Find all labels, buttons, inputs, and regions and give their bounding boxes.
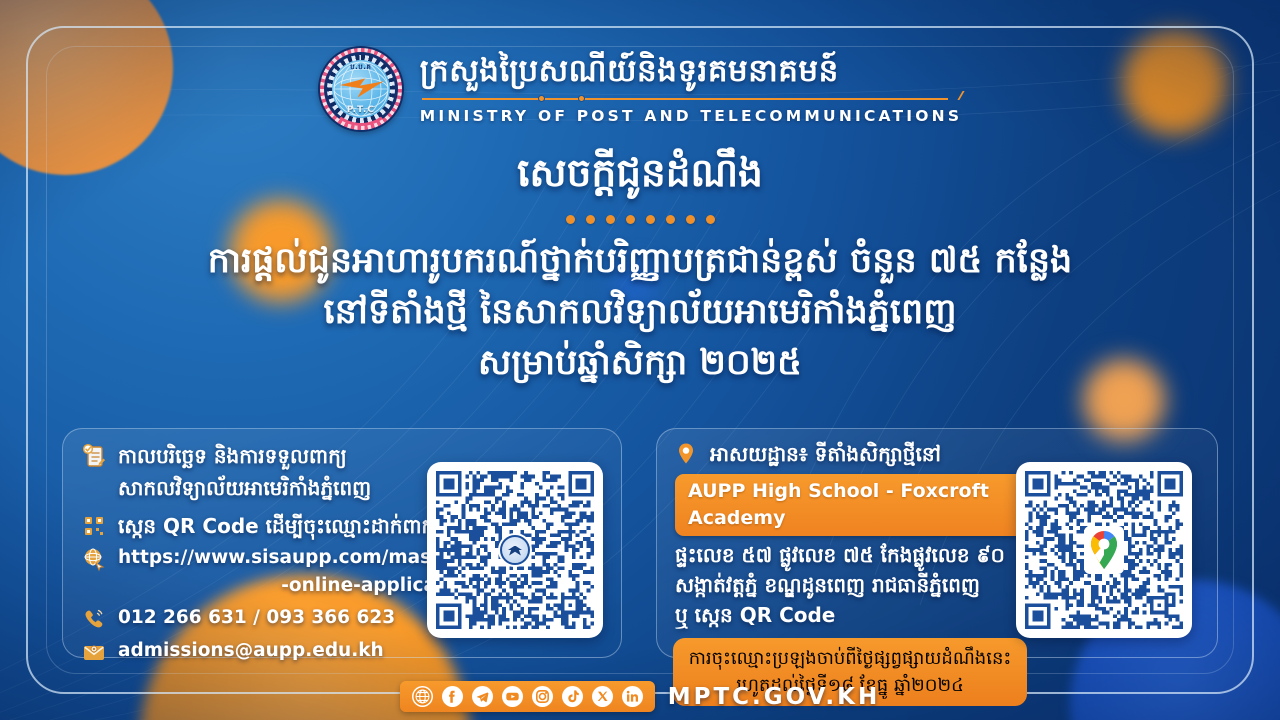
school-badge-wrap: AUPP High School - Foxcroft Academy bbox=[675, 474, 1027, 535]
address-line-1: ផ្ទះលេខ ៥៧ ផ្លូវលេខ ៧៥ កែងផ្លូវលេខ ៩០ bbox=[673, 540, 1005, 570]
application-qr-code[interactable] bbox=[427, 462, 603, 638]
location-qr-code[interactable] bbox=[1016, 462, 1192, 638]
qr-center-logo-seal bbox=[498, 533, 532, 567]
seal-initials-en: P.T.C bbox=[318, 105, 404, 115]
divider-dot bbox=[626, 215, 635, 224]
qr-scan-icon bbox=[81, 513, 107, 539]
announcement-line-1: ការផ្តល់ជូនអាហារូបករណ៍ថ្នាក់បរិញ្ញាបត្រជ… bbox=[0, 236, 1280, 287]
poster-canvas: ប.ប.គ P.T.C ក្រសួងប្រៃសណីយ៍និងទូរគមនាគមន… bbox=[0, 0, 1280, 720]
brand-block: ក្រសួងប្រៃសណីយ៍និងទូរគមនាគមន៍ MINISTRY O… bbox=[420, 53, 962, 125]
announcement-line-3: សម្រាប់ឆ្នាំសិក្សា ២០២៥ bbox=[0, 338, 1280, 389]
divider-dot bbox=[666, 215, 675, 224]
brand-name-khmer: ក្រសួងប្រៃសណីយ៍និងទូរគមនាគមន៍ bbox=[420, 53, 962, 90]
address-line-2: សង្កាត់វត្តភ្នំ ខណ្ឌដូនពេញ រាជធានីភ្នំពេ… bbox=[673, 570, 980, 600]
document-checklist-icon bbox=[81, 443, 107, 469]
divider-dot bbox=[606, 215, 615, 224]
info-row-university-label: សាកលវិទ្យាល័យអាមេរិកាំងភ្នំពេញ bbox=[118, 473, 371, 503]
info-row-email[interactable]: admissions@aupp.edu.kh bbox=[81, 637, 621, 665]
email-address[interactable]: admissions@aupp.edu.kh bbox=[118, 637, 384, 665]
tiktok-icon[interactable] bbox=[562, 686, 583, 707]
brand-name-english: MINISTRY OF POST AND TELECOMMUNICATIONS bbox=[420, 107, 962, 125]
divider-dot bbox=[646, 215, 655, 224]
mptc-seal-icon: ប.ប.គ P.T.C bbox=[318, 46, 404, 132]
divider-dot bbox=[686, 215, 695, 224]
announcement-line-2: នៅទីតាំងថ្មី នៃសាកលវិទ្យាល័យអាមេរិកាំងភ្… bbox=[0, 287, 1280, 338]
address-row-3: ឬ ស្កេន QR Code bbox=[673, 600, 1027, 630]
poster-header: ប.ប.គ P.T.C ក្រសួងប្រៃសណីយ៍និងទូរគមនាគមន… bbox=[0, 46, 1280, 132]
phone-numbers[interactable]: 012 266 631 / 093 366 623 bbox=[118, 604, 395, 632]
poster-footer: MPTC.GOV.KH bbox=[0, 681, 1280, 712]
instagram-icon[interactable] bbox=[532, 686, 553, 707]
linkedin-icon[interactable] bbox=[622, 686, 643, 707]
address-line-3: ឬ ស្កេន QR Code bbox=[673, 600, 835, 630]
brand-divider-rule bbox=[420, 93, 962, 103]
address-row-1: ផ្ទះលេខ ៥៧ ផ្លូវលេខ ៧៥ កែងផ្លូវលេខ ៩០ bbox=[673, 540, 1027, 570]
announcement-heading: សេចក្តីជូនដំណឹង bbox=[0, 150, 1280, 199]
phone-icon bbox=[81, 606, 107, 632]
email-icon bbox=[81, 639, 107, 665]
address-row-2: សង្កាត់វត្តភ្នំ ខណ្ឌដូនពេញ រាជធានីភ្នំពេ… bbox=[673, 570, 1027, 600]
qr-center-logo-maps-pin bbox=[1084, 526, 1124, 574]
x-twitter-icon[interactable] bbox=[592, 686, 613, 707]
globe-icon[interactable] bbox=[412, 686, 433, 707]
youtube-icon[interactable] bbox=[502, 686, 523, 707]
telegram-icon[interactable] bbox=[472, 686, 493, 707]
social-icon-bar bbox=[400, 681, 655, 712]
location-heading-label: អាសយដ្ឋាន៖ ទីតាំងសិក្សាថ្មីនៅ bbox=[710, 439, 941, 469]
school-name-badge: AUPP High School - Foxcroft Academy bbox=[675, 474, 1027, 535]
seal-initials-kh: ប.ប.គ bbox=[318, 63, 404, 73]
info-row-dates-label: កាលបរិច្ឆេទ និងការទទួលពាក្យ bbox=[118, 441, 347, 471]
location-heading-row: អាសយដ្ឋាន៖ ទីតាំងសិក្សាថ្មីនៅ bbox=[673, 439, 1027, 469]
globe-web-icon bbox=[81, 546, 107, 572]
divider-dot bbox=[566, 215, 575, 224]
announcement-title-block: សេចក្តីជូនដំណឹង ការផ្តល់ជូនអាហារូបករណ៍ថ្… bbox=[0, 150, 1280, 389]
facebook-icon[interactable] bbox=[442, 686, 463, 707]
website-domain-label: MPTC.GOV.KH bbox=[668, 684, 881, 710]
map-pin-icon bbox=[673, 441, 699, 467]
deadline-line-1: ការចុះឈ្មោះប្រឡងចាប់ពីថ្ងៃផ្សព្វផ្សាយដំណ… bbox=[689, 648, 1012, 669]
divider-dot bbox=[706, 215, 715, 224]
divider-dot bbox=[586, 215, 595, 224]
info-row-scan-label: ស្កេន QR Code ដើម្បីចុះឈ្មោះដាក់ពាក្យ bbox=[118, 511, 440, 541]
website-url[interactable]: https://www.sisaupp.com/masters bbox=[118, 544, 473, 572]
dot-divider bbox=[0, 215, 1280, 224]
